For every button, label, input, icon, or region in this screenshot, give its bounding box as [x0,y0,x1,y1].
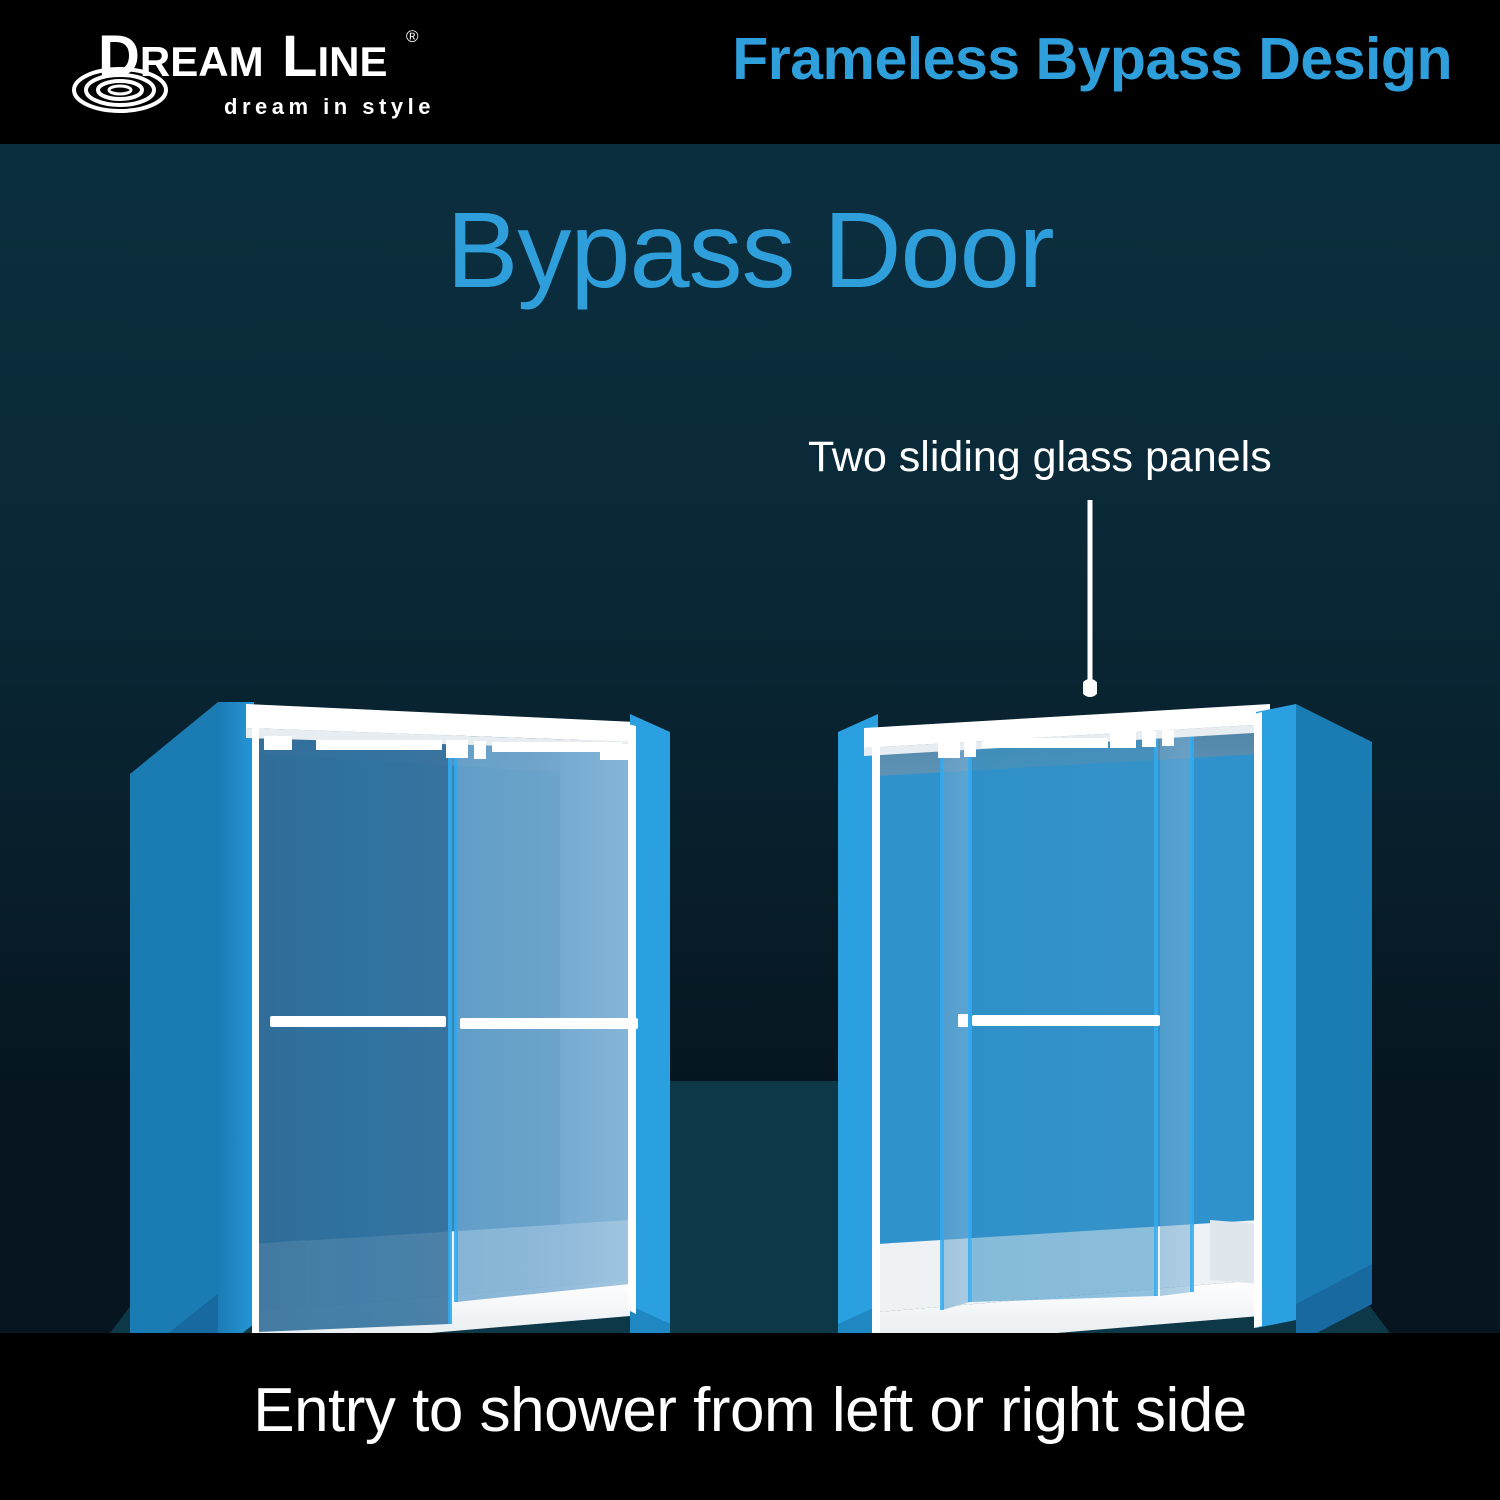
shower-enclosure-left [130,684,690,1333]
frame-post-left [872,730,880,1333]
door-handle-bar-right [958,1014,1160,1027]
tiled-side-wall-left [130,702,218,1333]
header-right-text: Frameless Bypass Design [732,26,1452,92]
brand-wordmark-dream: DREAM [98,24,264,89]
infographic-canvas: DREAM LINE ® dream in style Frameless By… [0,0,1500,1500]
tiled-side-wall-right [1296,704,1372,1333]
shower-enclosure-right [820,684,1380,1333]
callout-leader-line-icon [1083,500,1097,700]
brand-wordmark-line: LINE [282,24,387,89]
frame-post-right [1254,712,1262,1328]
sliding-glass-panel-c [1160,724,1194,1296]
page-title: Bypass Door [0,196,1500,304]
footer-caption: Entry to shower from left or right side [0,1380,1500,1442]
registered-mark-icon: ® [406,27,419,46]
frame-post-left [252,722,259,1333]
brand-tagline-text: dream in style [224,94,435,119]
wall-pilaster-left [218,702,254,1333]
callout-label: Two sliding glass panels [808,436,1272,479]
scene-background [0,144,1500,1333]
sliding-glass-panel-a [258,728,452,1332]
brand-logo: DREAM LINE ® dream in style [58,14,478,132]
